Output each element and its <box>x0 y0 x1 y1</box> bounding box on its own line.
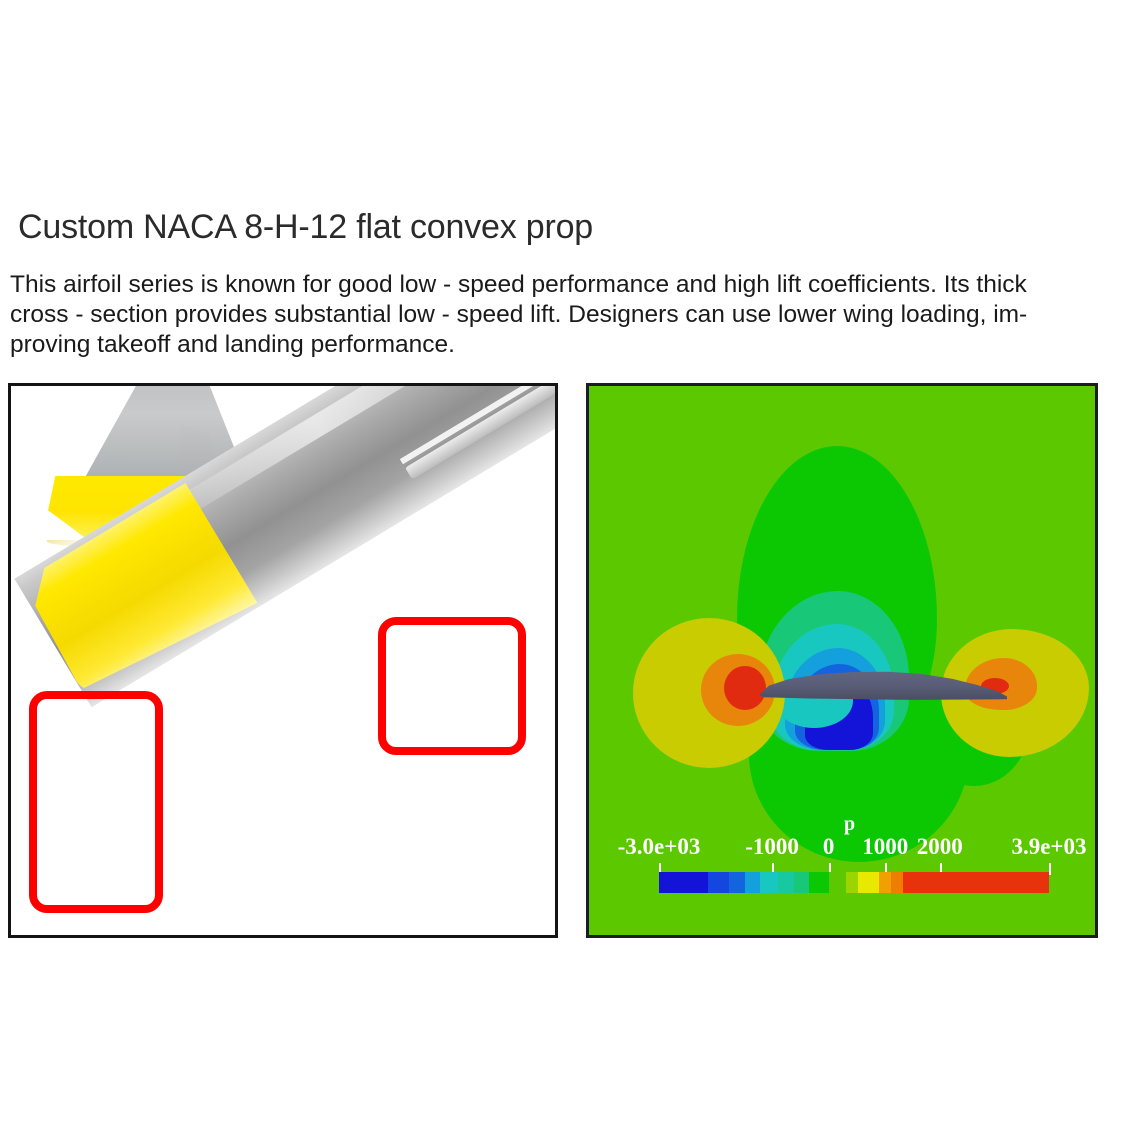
colorbar-band-6 <box>794 872 810 893</box>
colorbar-band-10 <box>858 872 879 893</box>
colorbar-tick-mark-5 <box>1049 863 1051 875</box>
figure-row: p -3.0e+03-10000100020003.9e+03 <box>0 383 1125 943</box>
photo-stage <box>11 386 555 935</box>
colorbar-band-9 <box>846 872 858 893</box>
colorbar-band-11 <box>879 872 891 893</box>
colorbar-tick-label-1: -1000 <box>745 834 799 860</box>
colorbar-band-1 <box>708 872 729 893</box>
colorbar-band-8 <box>829 872 847 893</box>
description-paragraph: This airfoil series is known for good lo… <box>10 270 1105 360</box>
annotation-box-blade-tip <box>29 691 163 913</box>
colorbar-tick-label-5: 3.9e+03 <box>1011 834 1086 860</box>
colorbar-tick-label-3: 1000 <box>862 834 908 860</box>
description-line-1: This airfoil series is known for good lo… <box>10 270 1105 300</box>
colorbar-band-2 <box>729 872 745 893</box>
colorbar-variable-label: p <box>844 814 855 834</box>
colorbar-gradient-bar <box>659 872 1049 893</box>
cfd-pressure-contour-panel: p -3.0e+03-10000100020003.9e+03 <box>586 383 1098 938</box>
colorbar-band-13 <box>903 872 1049 893</box>
colorbar-tick-label-4: 2000 <box>917 834 963 860</box>
propeller-photo-panel <box>8 383 558 938</box>
pressure-colorbar: p -3.0e+03-10000100020003.9e+03 <box>601 814 1091 900</box>
colorbar-band-0 <box>659 872 708 893</box>
colorbar-band-7 <box>809 872 829 893</box>
colorbar-tick-label-0: -3.0e+03 <box>618 834 701 860</box>
description-line-2: cross - section provides substantial low… <box>10 300 1105 330</box>
contour-field: p -3.0e+03-10000100020003.9e+03 <box>589 386 1095 935</box>
colorbar-tick-label-2: 0 <box>823 834 835 860</box>
annotation-box-trailing-edge <box>378 617 526 755</box>
page-title: Custom NACA 8-H-12 flat convex prop <box>18 208 593 247</box>
description-line-3: proving takeoff and landing performance. <box>10 330 1105 360</box>
colorbar-band-4 <box>760 872 778 893</box>
colorbar-band-3 <box>745 872 761 893</box>
colorbar-band-5 <box>778 872 794 893</box>
contour-red-leading-edge-stagnation <box>724 666 766 710</box>
colorbar-band-12 <box>891 872 903 893</box>
